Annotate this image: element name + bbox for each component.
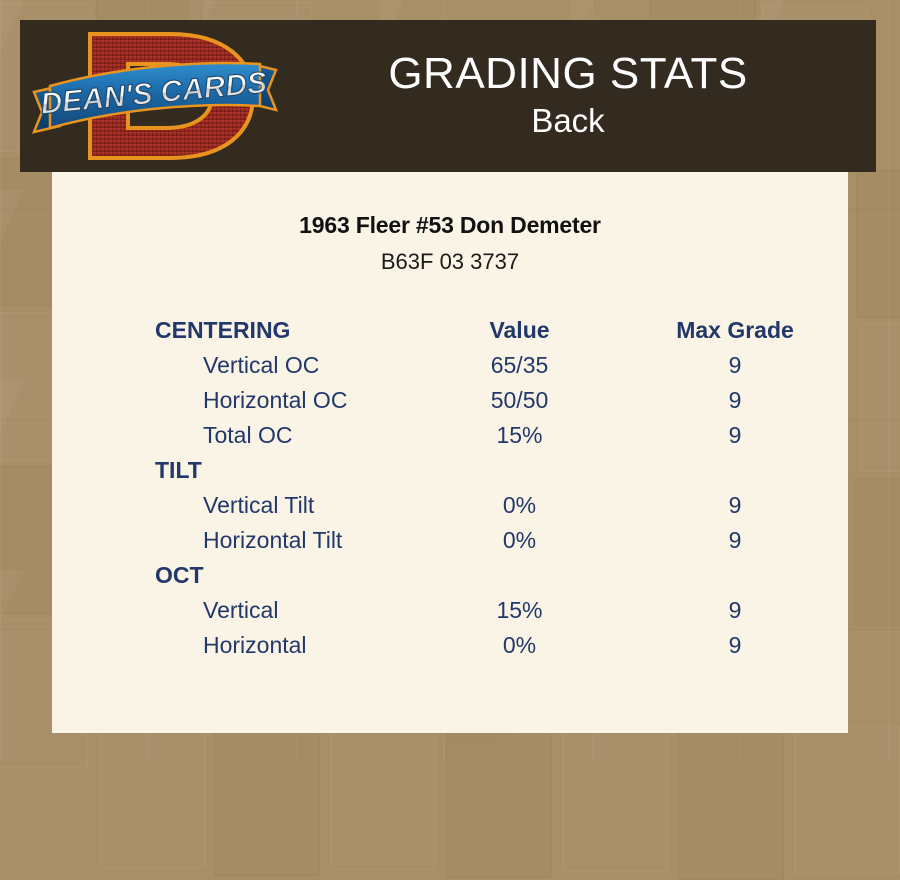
background-card bbox=[562, 724, 668, 872]
section-header-oct: OCT bbox=[52, 558, 417, 593]
background-card bbox=[678, 732, 784, 880]
section-spacer bbox=[417, 453, 622, 488]
stat-max-grade: 9 bbox=[622, 383, 848, 418]
section-spacer bbox=[622, 453, 848, 488]
table-row: Horizontal Tilt0%9 bbox=[52, 523, 848, 558]
page-subtitle: Back bbox=[290, 101, 846, 141]
column-header-max-grade: Max Grade bbox=[622, 313, 848, 348]
stat-max-grade: 9 bbox=[622, 348, 848, 383]
table-header-row: CENTERINGValueMax Grade bbox=[52, 313, 848, 348]
table-row: Vertical Tilt0%9 bbox=[52, 488, 848, 523]
background-card bbox=[446, 730, 552, 878]
card-title: 1963 Fleer #53 Don Demeter bbox=[52, 212, 848, 239]
stat-label: Vertical OC bbox=[52, 348, 417, 383]
section-header-tilt: TILT bbox=[52, 453, 417, 488]
section-header-row: TILT bbox=[52, 453, 848, 488]
stat-label: Vertical bbox=[52, 593, 417, 628]
card-identifier: B63F 03 3737 bbox=[52, 249, 848, 275]
table-row: Vertical OC65/359 bbox=[52, 348, 848, 383]
stat-value: 50/50 bbox=[417, 383, 622, 418]
stat-label: Horizontal OC bbox=[52, 383, 417, 418]
stat-value: 0% bbox=[417, 628, 622, 663]
deans-cards-logo[interactable]: DEAN'S CARDS bbox=[20, 20, 290, 172]
table-row: Vertical15%9 bbox=[52, 593, 848, 628]
content-panel: 1963 Fleer #53 Don Demeter B63F 03 3737 … bbox=[52, 172, 848, 733]
stat-max-grade: 9 bbox=[622, 628, 848, 663]
section-spacer bbox=[417, 558, 622, 593]
page-header: DEAN'S CARDS GRADING STATS Back bbox=[20, 20, 876, 172]
background-card bbox=[860, 324, 900, 472]
stat-label: Horizontal bbox=[52, 628, 417, 663]
section-header-row: OCT bbox=[52, 558, 848, 593]
stat-label: Total OC bbox=[52, 418, 417, 453]
stat-label: Horizontal Tilt bbox=[52, 523, 417, 558]
background-card bbox=[856, 170, 900, 318]
page-title: GRADING STATS bbox=[290, 51, 846, 97]
background-card bbox=[794, 726, 900, 874]
stat-max-grade: 9 bbox=[622, 418, 848, 453]
background-card bbox=[854, 478, 900, 626]
column-header-value: Value bbox=[417, 313, 622, 348]
stat-label: Vertical Tilt bbox=[52, 488, 417, 523]
background-card bbox=[330, 722, 436, 870]
stat-max-grade: 9 bbox=[622, 593, 848, 628]
stat-value: 0% bbox=[417, 488, 622, 523]
stat-max-grade: 9 bbox=[622, 523, 848, 558]
section-header-centering: CENTERING bbox=[52, 313, 417, 348]
section-spacer bbox=[622, 558, 848, 593]
background-card bbox=[214, 728, 320, 876]
stat-value: 15% bbox=[417, 593, 622, 628]
stat-value: 65/35 bbox=[417, 348, 622, 383]
grading-stats-table: CENTERINGValueMax GradeVertical OC65/359… bbox=[52, 313, 848, 663]
stat-value: 15% bbox=[417, 418, 622, 453]
stat-value: 0% bbox=[417, 523, 622, 558]
header-title-block: GRADING STATS Back bbox=[290, 51, 876, 140]
table-row: Horizontal0%9 bbox=[52, 628, 848, 663]
table-row: Total OC15%9 bbox=[52, 418, 848, 453]
table-row: Horizontal OC50/509 bbox=[52, 383, 848, 418]
stat-max-grade: 9 bbox=[622, 488, 848, 523]
background-card bbox=[100, 720, 206, 868]
